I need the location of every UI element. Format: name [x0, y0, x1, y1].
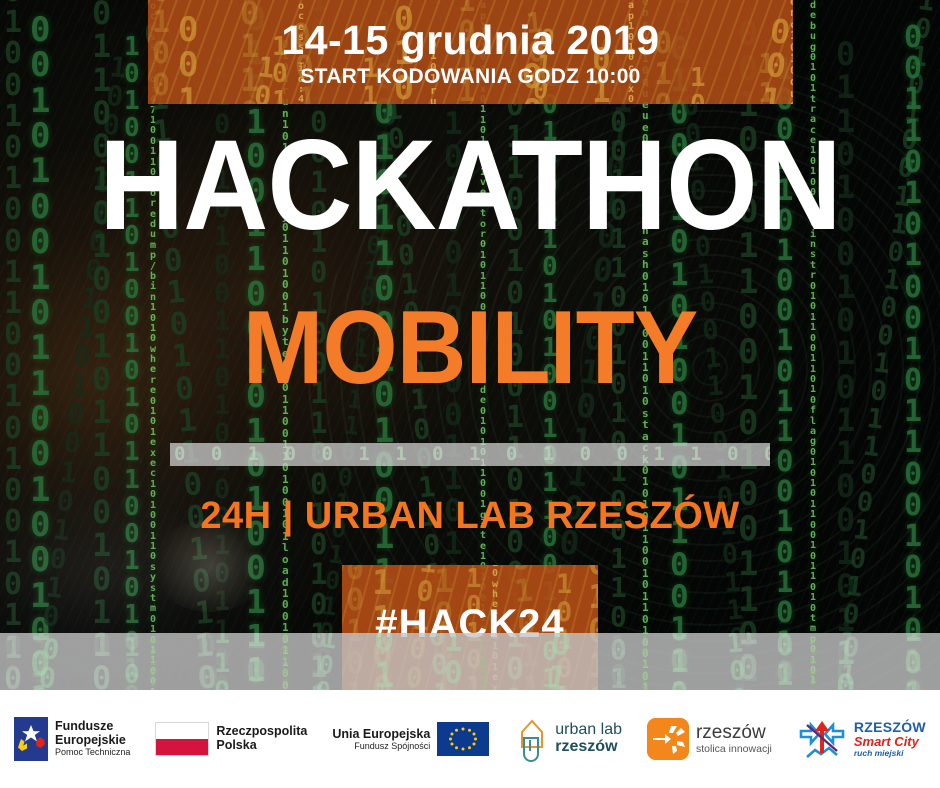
sponsor-logo-strip: Fundusze Europejskie Pomoc Techniczna Rz… — [0, 690, 940, 788]
binary-column: 0 1 1 0 1 0 0 1 0 1 0 0 1 1 0 1 0 1 0 0 … — [444, 633, 462, 690]
binary-column: 0 1 0 1 1 0 0 1 0 1 0 0 1 1 0 1 0 0 1 0 … — [506, 633, 523, 690]
binary-column: 1 0 0 1 1 0 1 0 0 1 0 1 1 0 0 1 0 1 0 1 … — [776, 633, 792, 690]
urban-lab-building-icon — [514, 716, 548, 762]
binary-column: 0 1 0 0 1 1 0 1 0 1 0 0 1 0 1 1 0 0 1 0 … — [670, 633, 688, 690]
logo-line-1: RZESZÓW — [854, 720, 926, 735]
eu-funds-flag-icon — [14, 717, 48, 761]
poland-text: Rzeczpospolita Polska — [216, 725, 307, 753]
eu-flag-icon — [437, 722, 489, 756]
logo-unia-europejska: Unia Europejska Fundusz Spójności — [332, 722, 489, 756]
logo-fundusze-europejskie: Fundusze Europejskie Pomoc Techniczna — [14, 717, 130, 761]
event-date: 14-15 grudnia 2019 — [148, 17, 793, 64]
logo-line-2: rzeszów — [555, 739, 622, 756]
grey-band-binary-rain: 0 1 0 0 1 0 1 0 0 1 1 0 0 1 0 1 0 0 1 0 … — [0, 633, 940, 690]
logo-rzeszow-stolica-innowacji: rzeszów stolica innowacji — [647, 718, 772, 760]
event-venue: 24H | URBAN LAB RZESZÓW — [0, 495, 940, 538]
binary-column: 0 0 1 0 1 0 1 1 0 0 1 0 1 0 0 1 1 0 1 0 … — [738, 633, 757, 690]
urban-lab-mark-icon — [514, 716, 548, 762]
urban-lab-text: urban lab rzeszów — [555, 722, 622, 756]
eu-flag-stars-icon — [437, 722, 489, 756]
logo-line-2: Europejskie — [55, 734, 130, 748]
page-subtitle: MOBILITY — [33, 296, 907, 400]
eu-funds-stars-icon — [14, 717, 48, 761]
rzeszow-text: rzeszów stolica innowacji — [696, 723, 772, 755]
binary-column: 0 1 1 0 0 1 0 1 0 0 1 0 1 1 0 0 1 0 1 0 … — [92, 633, 110, 690]
logo-rzeczpospolita-polska: Rzeczpospolita Polska — [155, 722, 307, 756]
page-title: HACKATHON — [38, 122, 903, 250]
smart-city-text: RZESZÓW Smart City ruch miejski — [854, 720, 926, 758]
binary-column: 0 0 1 0 1 1 0 0 1 0 1 0 0 1 1 0 1 0 0 1 … — [374, 633, 393, 690]
logo-line-2: stolica innowacji — [696, 744, 772, 755]
binary-column: e n c 1 0 1 0 q u e u e 0 1 1 0 1 0 0 1 … — [642, 633, 649, 690]
binary-column: 0 0 1 1 0 1 0 1 0 0 1 0 1 1 0 0 1 0 1 0 … — [904, 633, 921, 690]
logo-line-1: Unia Europejska — [332, 727, 430, 741]
logo-line-2: Polska — [216, 739, 307, 753]
smart-city-arrows-icon — [797, 717, 847, 761]
smart-city-mark-icon — [797, 717, 847, 761]
logo-line-3: ruch miejski — [854, 749, 926, 758]
rzeszow-arrow-star-icon — [647, 718, 689, 760]
logo-line-1: Rzeczpospolita — [216, 725, 307, 739]
binary-column: 0 1 0 0 1 0 1 0 0 1 1 0 0 1 0 1 0 0 1 0 … — [4, 633, 21, 690]
divider-binary-digits: 0 0 1 0 0 1 1 0 1 0 1 0 0 1 1 0 0 0 0 0 … — [174, 443, 770, 466]
date-banner: 0 1 0 0 1 0 1 0 0 1 1 0 0 1 0 1 0 0 1 0 … — [148, 0, 793, 104]
logo-line-2: Fundusz Spójności — [332, 741, 430, 751]
eu-funds-text: Fundusze Europejskie Pomoc Techniczna — [55, 720, 130, 758]
logo-line-2: Smart City — [854, 735, 926, 749]
rzeszow-city-mark-icon — [647, 718, 689, 760]
logo-line-3: Pomoc Techniczna — [55, 748, 130, 758]
binary-column: 0 1 0 1 0 0 1 1 0 0 1 0 1 0 1 0 0 1 1 0 … — [246, 633, 265, 690]
binary-column: 1 1 0 0 1 0 1 0 0 1 1 0 1 0 1 0 0 1 0 1 … — [214, 633, 229, 690]
binary-column: 1 1 0 0 1 0 1 1 0 0 1 0 1 0 1 0 0 1 1 0 … — [610, 633, 626, 690]
logo-line-1: rzeszów — [696, 723, 772, 744]
hackathon-poster: 0 1 0 0 1 0 1 0 0 1 1 0 0 1 0 1 0 0 1 0 … — [0, 0, 940, 788]
logo-line-1: urban lab — [555, 722, 622, 739]
event-start-time: START KODOWANIA GODZ 10:00 — [148, 65, 793, 89]
logo-line-1: Fundusze — [55, 720, 130, 734]
logo-urban-lab-rzeszow: urban lab rzeszów — [514, 716, 622, 762]
eu-text: Unia Europejska Fundusz Spójności — [332, 727, 430, 752]
poland-flag-icon — [155, 722, 209, 756]
logo-rzeszow-smart-city: RZESZÓW Smart City ruch miejski — [797, 717, 926, 761]
binary-column: 1 0 1 0 0 1 1 0 1 0 0 1 0 1 0 1 1 0 0 1 … — [124, 633, 139, 690]
binary-divider-bar: 0 0 1 0 0 1 1 0 1 0 1 0 0 1 1 0 0 0 0 0 … — [170, 443, 770, 466]
binary-column: p r o c e s s _ i d : 4 7 1 0 0 1 1 0 c … — [150, 633, 156, 690]
binary-column: m a p 1 0 1 0 c t x 0 1 1 0 1 0 0 1 v e … — [480, 633, 486, 690]
binary-column: 0 1 0 1 r u n 1 0 1 0 0 1 k e y 0 1 1 0 … — [282, 633, 289, 690]
grey-translucent-band: 0 1 0 0 1 0 1 0 0 1 1 0 0 1 0 1 0 0 1 0 … — [0, 633, 940, 690]
binary-column: d e b u g 0 1 0 1 t r a c e 1 0 1 0 0 1 … — [810, 633, 816, 690]
